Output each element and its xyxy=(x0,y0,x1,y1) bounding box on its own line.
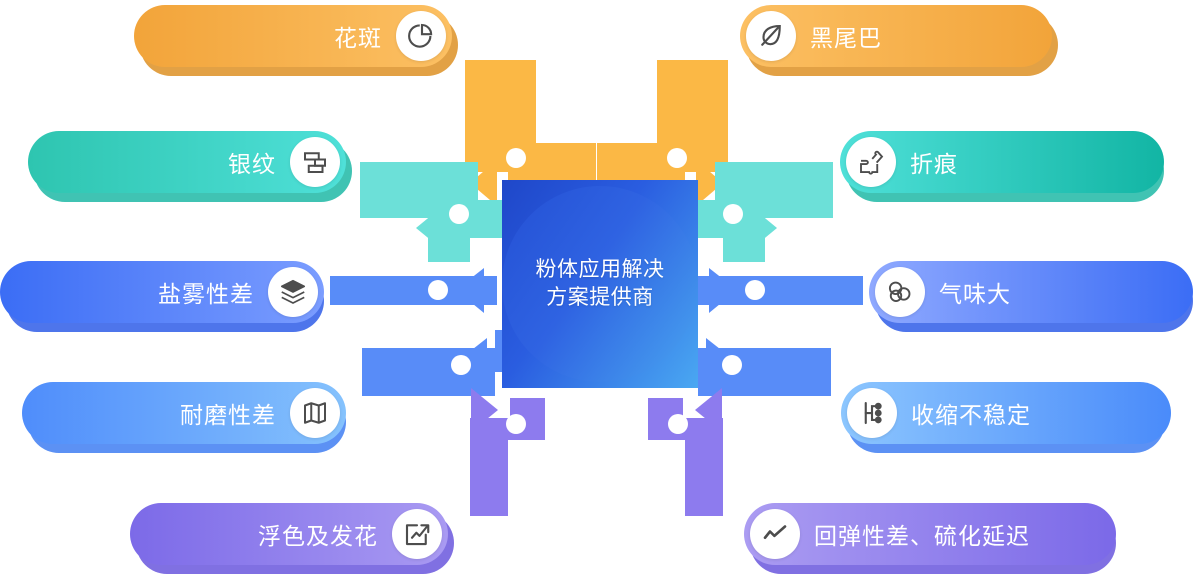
pill-label-heiweiba: 黑尾巴 xyxy=(810,19,882,53)
layers-icon xyxy=(268,267,318,317)
pill-heiweiba[interactable]: 黑尾巴 xyxy=(740,5,1052,67)
pill-label-naimo: 耐磨性差 xyxy=(180,396,276,430)
pill-label-qiwei: 气味大 xyxy=(939,275,1011,309)
pill-label-zhehen: 折痕 xyxy=(910,145,958,179)
pie-chart-icon xyxy=(396,11,446,61)
hub-label: 粉体应用解决 方案提供商 xyxy=(536,256,665,311)
pill-shousuo[interactable]: 收缩不稳定 xyxy=(841,382,1171,444)
pill-naimo[interactable]: 耐磨性差 xyxy=(22,382,346,444)
connector-yanwu xyxy=(330,268,497,313)
leaf-icon xyxy=(746,11,796,61)
sitemap-icon xyxy=(847,388,897,438)
pill-fuse[interactable]: 浮色及发花 xyxy=(130,503,448,565)
line-chart-icon xyxy=(750,509,800,559)
connector-fuse xyxy=(470,388,545,516)
puzzle-icon xyxy=(846,137,896,187)
pill-zhehen[interactable]: 折痕 xyxy=(840,131,1164,193)
connector-huitan xyxy=(648,388,723,516)
connector-qiwei xyxy=(696,268,863,313)
pill-label-fuse: 浮色及发花 xyxy=(258,517,378,551)
pill-yanwu[interactable]: 盐雾性差 xyxy=(0,261,324,323)
pill-label-yanwu: 盐雾性差 xyxy=(158,275,254,309)
pill-huaban[interactable]: 花斑 xyxy=(134,5,452,67)
trend-box-icon xyxy=(392,509,442,559)
pill-label-yinwen: 银纹 xyxy=(228,145,276,179)
recycle-icon xyxy=(875,267,925,317)
pill-label-shousuo: 收缩不稳定 xyxy=(911,396,1031,430)
pill-yinwen[interactable]: 银纹 xyxy=(28,131,346,193)
connector-naimo xyxy=(362,330,520,396)
pill-qiwei[interactable]: 气味大 xyxy=(869,261,1193,323)
pill-huitan[interactable]: 回弹性差、硫化延迟 xyxy=(744,503,1116,565)
brick-wall-icon xyxy=(290,137,340,187)
hub-label-line1: 粉体应用解决 xyxy=(536,256,665,284)
pill-label-huaban: 花斑 xyxy=(334,19,382,53)
diagram-canvas: 粉体应用解决 方案提供商 花斑 黑尾巴 银纹 xyxy=(0,0,1193,577)
hub-label-line2: 方案提供商 xyxy=(536,284,665,312)
hub-node[interactable]: 粉体应用解决 方案提供商 xyxy=(502,180,698,388)
open-book-icon xyxy=(290,388,340,438)
pill-label-huitan: 回弹性差、硫化延迟 xyxy=(814,517,1030,551)
